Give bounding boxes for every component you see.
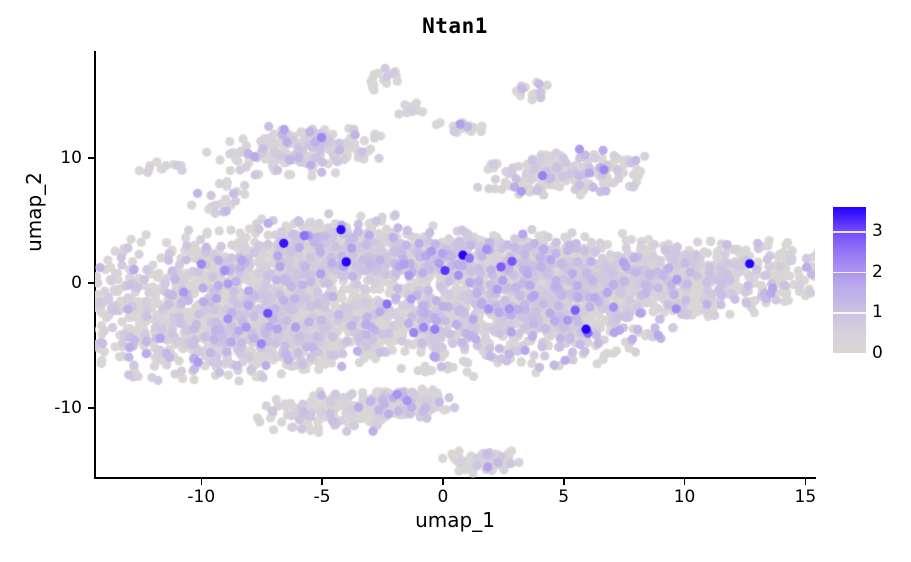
x-tick-mark — [321, 479, 323, 485]
y-axis-label: umap_2 — [22, 152, 46, 272]
y-tick-mark — [88, 407, 94, 409]
x-tick-mark — [563, 479, 565, 485]
x-tick-mark — [684, 479, 686, 485]
x-tick-label: -10 — [187, 487, 215, 507]
colorbar-gradient — [833, 207, 866, 353]
x-tick-label: 15 — [795, 487, 817, 507]
colorbar-tick-label: 3 — [872, 221, 883, 241]
y-tick-label: 0 — [0, 273, 82, 293]
colorbar-tick-label: 2 — [872, 262, 883, 282]
scatter-plot-area — [95, 52, 815, 478]
x-tick-label: 5 — [558, 487, 569, 507]
x-tick-mark — [805, 479, 807, 485]
x-axis-label: umap_1 — [95, 508, 815, 532]
colorbar-tick-label: 1 — [872, 302, 883, 322]
chart-title: Ntan1 — [95, 14, 815, 38]
y-tick-mark — [88, 282, 94, 284]
colorbar-tick-mark — [833, 272, 866, 274]
y-tick-label: -10 — [0, 398, 82, 418]
colorbar-tick-label: 0 — [872, 343, 883, 363]
x-tick-label: 0 — [437, 487, 448, 507]
x-tick-mark — [442, 479, 444, 485]
x-tick-label: -5 — [314, 487, 331, 507]
colorbar-tick-mark — [833, 231, 866, 233]
colorbar-tick-mark — [833, 312, 866, 314]
figure-canvas: Ntan1 -10-5051015 100-10 umap_1 umap_2 0… — [0, 0, 911, 562]
x-tick-mark — [201, 479, 203, 485]
x-tick-label: 10 — [674, 487, 696, 507]
y-tick-mark — [88, 157, 94, 159]
